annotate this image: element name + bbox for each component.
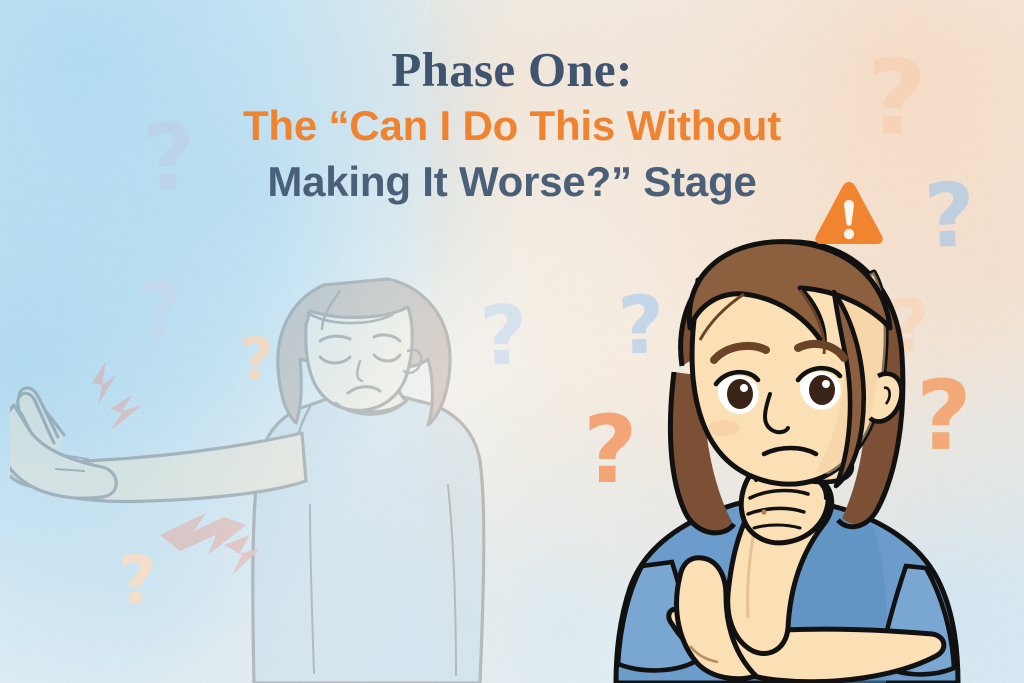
subtitle-line-1: The “Can I Do This Without: [0, 97, 1024, 155]
thinking-woman: [586, 236, 986, 683]
poster-canvas: ???????????: [0, 0, 1024, 683]
pain-bolt-elbow: [160, 513, 260, 575]
faded-woman-stop-gesture: [10, 255, 530, 683]
pain-bolt-wrist: [92, 361, 142, 431]
warning-triangle-icon: [812, 178, 886, 248]
page-title: Phase One:: [0, 44, 1024, 97]
